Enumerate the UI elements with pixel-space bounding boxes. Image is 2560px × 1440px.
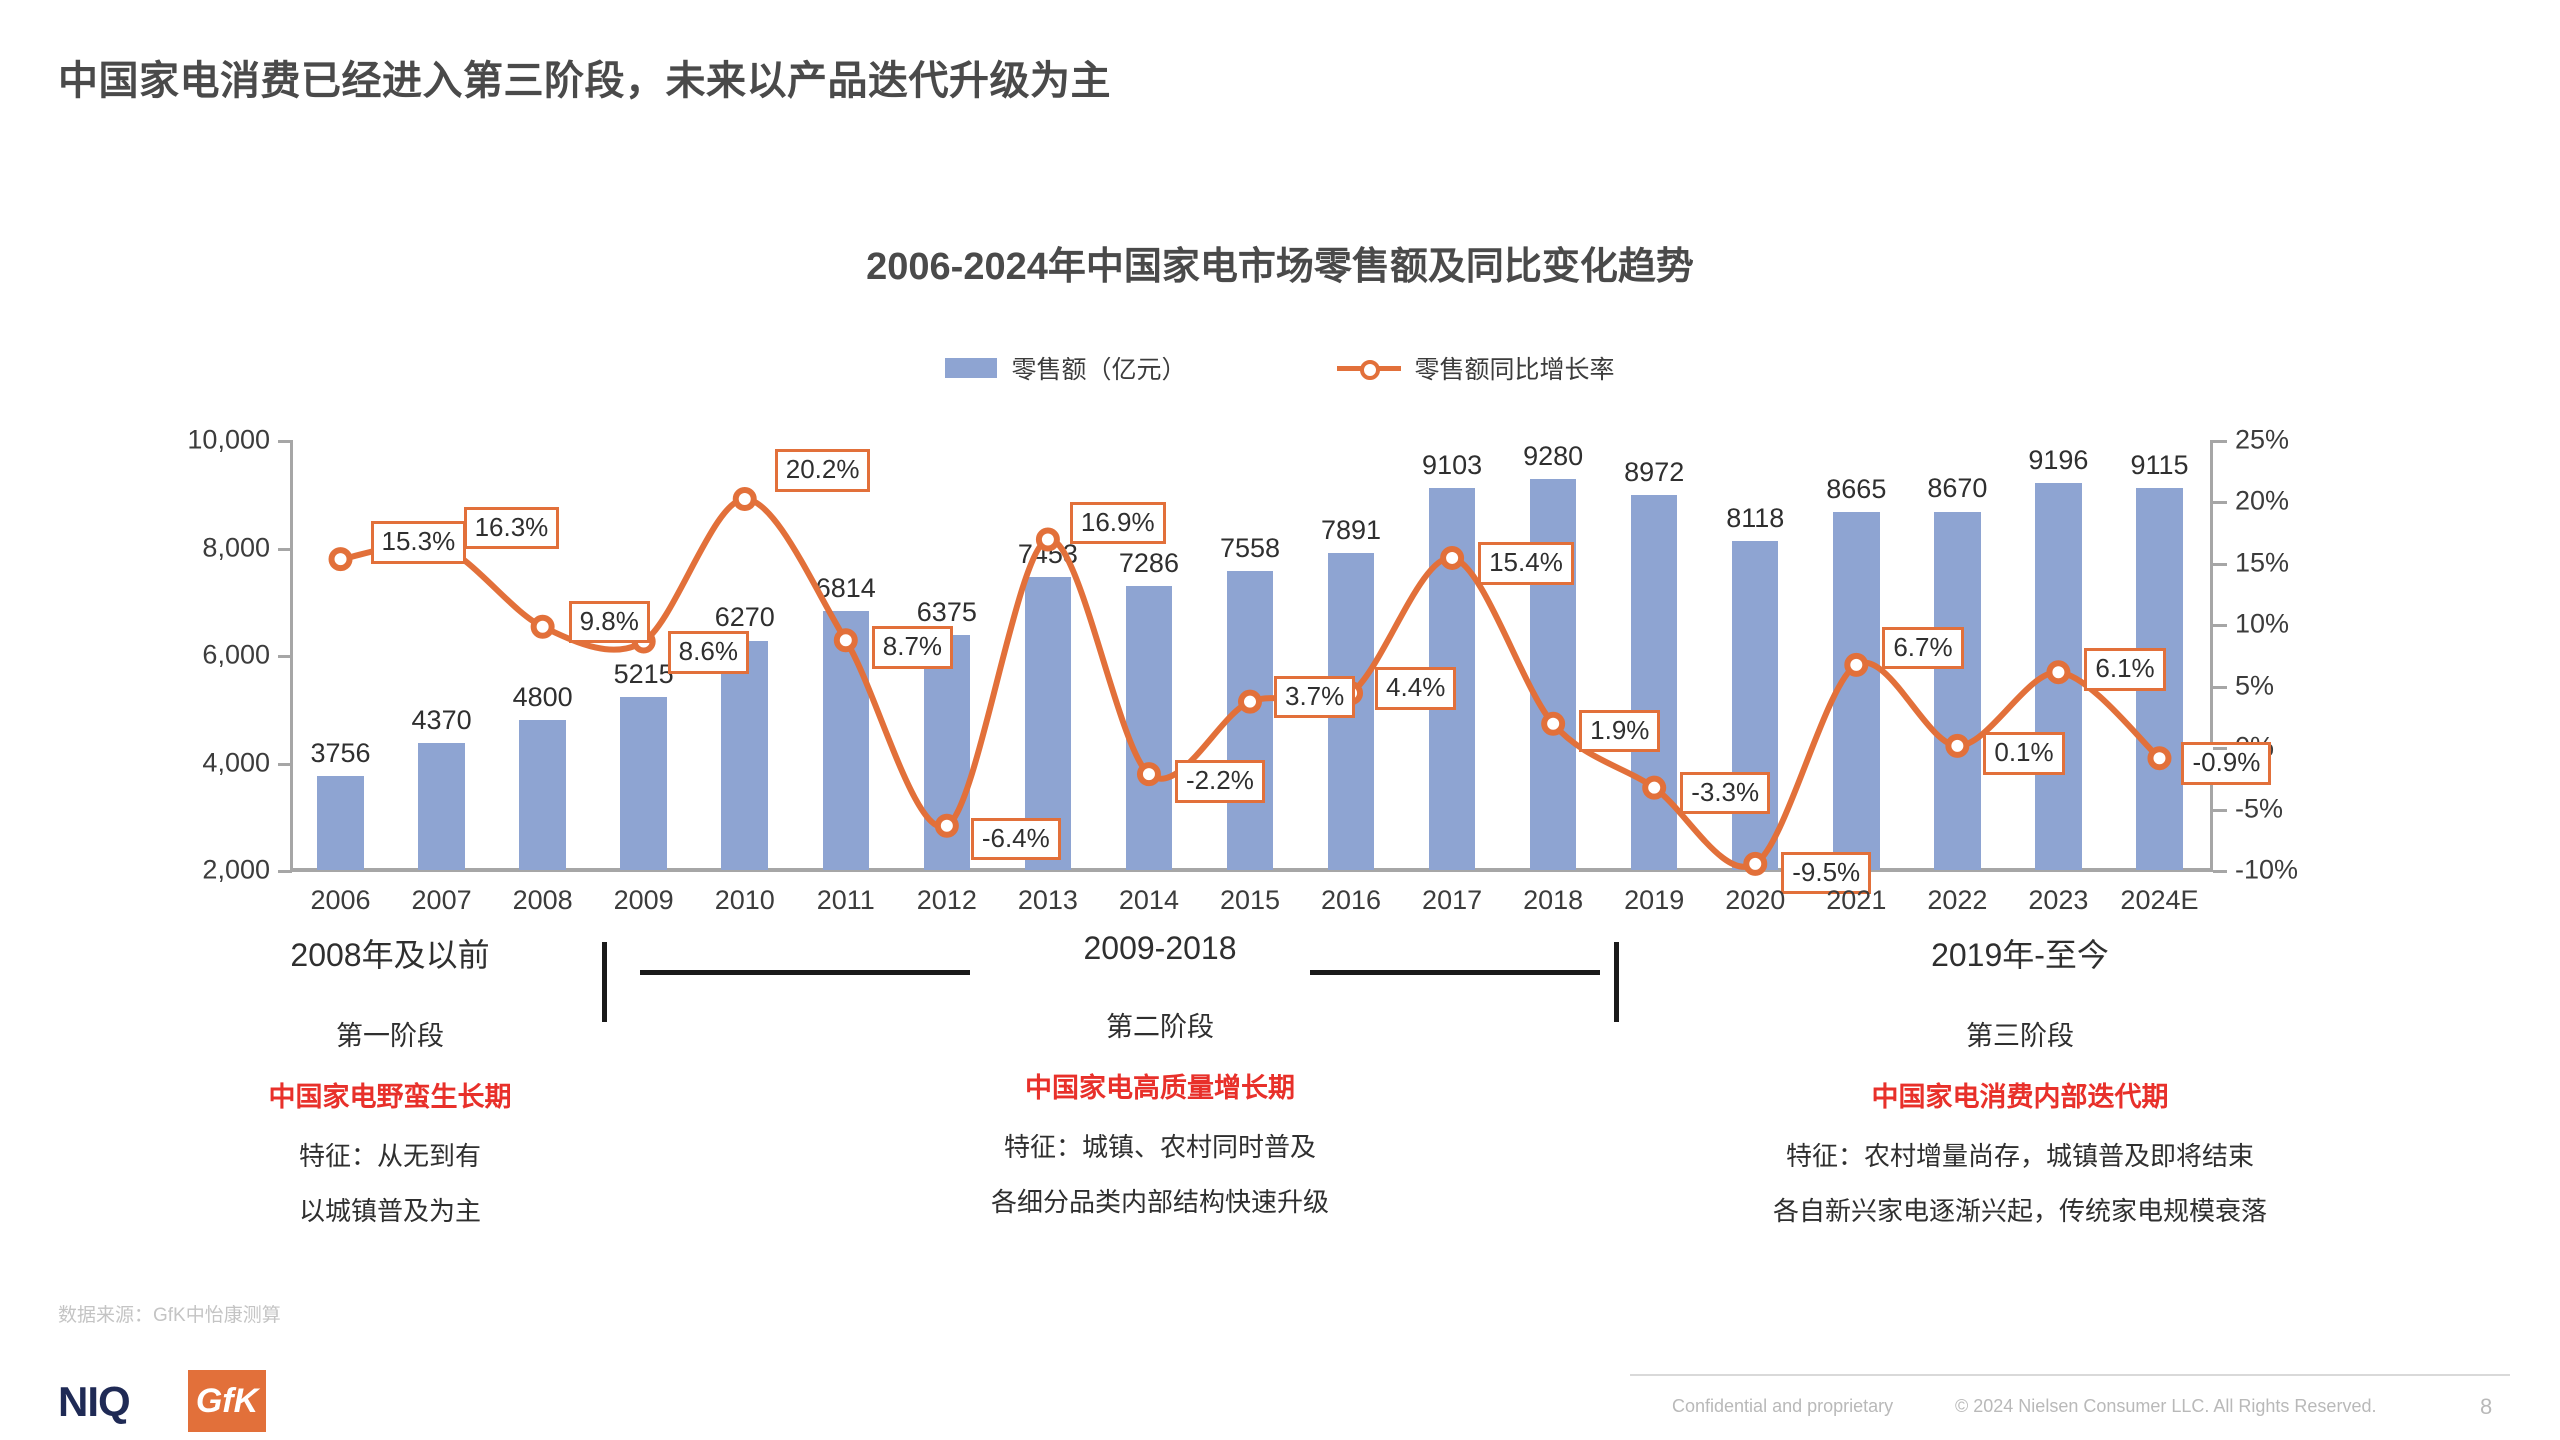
legend-line-label: 零售额同比增长率 <box>1415 350 1615 386</box>
x-axis-tick-label: 2009 <box>614 885 674 916</box>
y-axis-right-tick-label: -10% <box>2235 855 2298 886</box>
phase-feature: 各细分品类内部结构快速升级 <box>860 1182 1460 1219</box>
phase-feature: 特征：农村增量尚存，城镇普及即将结束 <box>1640 1136 2400 1173</box>
growth-value-label: 9.8% <box>569 601 650 644</box>
y-axis-right-tick <box>2213 440 2227 443</box>
y-axis-right-tick <box>2213 809 2227 812</box>
phase-divider-2 <box>1614 942 1619 1022</box>
growth-value-label: 3.7% <box>1274 676 1355 719</box>
x-axis-labels: 2006200720082009201020112012201320142015… <box>290 885 2210 935</box>
x-axis-tick-label: 2023 <box>2028 885 2088 916</box>
growth-value-label: 16.3% <box>464 507 560 550</box>
y-axis-right-labels: -10%-5%0%5%10%15%20%25% <box>2235 440 2395 870</box>
source-note: 数据来源：GfK中怡康测算 <box>58 1300 281 1327</box>
growth-value-label: 6.1% <box>2084 648 2165 691</box>
x-axis-tick-label: 2013 <box>1018 885 1078 916</box>
y-axis-right-tick <box>2213 501 2227 504</box>
y-axis-right-tick <box>2213 686 2227 689</box>
page-title: 中国家电消费已经进入第三阶段，未来以产品迭代升级为主 <box>58 48 1111 106</box>
phase-feature: 特征：从无到有 <box>180 1136 600 1173</box>
x-axis-tick-label: 2022 <box>1927 885 1987 916</box>
phase-range: 2019年-至今 <box>1640 930 2400 976</box>
phase-range: 2008年及以前 <box>180 930 600 976</box>
y-axis-left-tick <box>278 870 292 873</box>
y-axis-right-tick-label: 25% <box>2235 425 2289 456</box>
y-axis-left-tick <box>278 440 292 443</box>
x-axis-tick-label: 2024E <box>2120 885 2198 916</box>
page-number: 8 <box>2480 1394 2492 1420</box>
y-axis-right-tick-label: 5% <box>2235 670 2274 701</box>
footer-copyright: © 2024 Nielsen Consumer LLC. All Rights … <box>1955 1396 2376 1417</box>
phase-name: 中国家电高质量增长期 <box>860 1066 1460 1105</box>
x-axis-tick-label: 2018 <box>1523 885 1583 916</box>
y-axis-left-tick <box>278 548 292 551</box>
y-axis-right-tick-label: -5% <box>2235 793 2283 824</box>
growth-value-label: 20.2% <box>775 449 871 492</box>
growth-value-label: 15.4% <box>1478 542 1574 585</box>
x-axis-tick-label: 2010 <box>715 885 775 916</box>
legend-bar-swatch-icon <box>945 358 997 378</box>
footer-divider <box>1630 1374 2510 1376</box>
x-axis-tick-label: 2012 <box>917 885 977 916</box>
y-axis-left-tick-label: 2,000 <box>202 855 270 886</box>
legend-line-swatch-icon <box>1337 358 1401 378</box>
chart-plot: 2,0004,0006,0008,00010,000 -10%-5%0%5%10… <box>0 420 2560 910</box>
growth-value-label: 16.9% <box>1070 502 1166 545</box>
phase-range: 2009-2018 <box>860 930 1460 967</box>
phase-name: 中国家电消费内部迭代期 <box>1640 1075 2400 1114</box>
growth-value-label: -6.4% <box>971 818 1061 861</box>
x-axis-tick-label: 2017 <box>1422 885 1482 916</box>
growth-value-label: 0.1% <box>1983 732 2064 775</box>
x-axis-tick-label: 2015 <box>1220 885 1280 916</box>
x-axis-tick-label: 2016 <box>1321 885 1381 916</box>
y-axis-right-tick-label: 10% <box>2235 609 2289 640</box>
phase-stage: 第一阶段 <box>180 1014 600 1053</box>
legend-item-line: 零售额同比增长率 <box>1337 350 1615 386</box>
footer-confidential: Confidential and proprietary <box>1672 1396 1893 1417</box>
x-axis-tick-label: 2008 <box>513 885 573 916</box>
niq-logo: NIQ <box>58 1378 130 1426</box>
phase-feature: 以城镇普及为主 <box>180 1191 600 1228</box>
y-axis-left-tick-label: 10,000 <box>187 425 270 456</box>
x-axis-tick-label: 2021 <box>1826 885 1886 916</box>
growth-value-label: 15.3% <box>371 521 467 564</box>
growth-value-label: 8.6% <box>668 631 749 674</box>
phase-block-1: 2008年及以前 第一阶段 中国家电野蛮生长期 特征：从无到有 以城镇普及为主 <box>180 930 600 1246</box>
y-axis-right-tick <box>2213 563 2227 566</box>
x-axis-tick-label: 2007 <box>412 885 472 916</box>
phase-feature: 各自新兴家电逐渐兴起，传统家电规模衰落 <box>1640 1191 2400 1228</box>
x-axis-tick-label: 2020 <box>1725 885 1785 916</box>
phase-divider-1 <box>602 942 607 1022</box>
x-axis-tick-label: 2019 <box>1624 885 1684 916</box>
phase-stage: 第三阶段 <box>1640 1014 2400 1053</box>
phase-annotations: 2008年及以前 第一阶段 中国家电野蛮生长期 特征：从无到有 以城镇普及为主 … <box>0 930 2560 1270</box>
growth-value-label: 4.4% <box>1375 667 1456 710</box>
y-axis-right-tick <box>2213 747 2227 750</box>
y-axis-right-tick <box>2213 624 2227 627</box>
chart-title: 2006-2024年中国家电市场零售额及同比变化趋势 <box>0 235 2560 290</box>
y-axis-left-labels: 2,0004,0006,0008,00010,000 <box>150 440 270 870</box>
growth-value-label: -2.2% <box>1175 760 1265 803</box>
x-axis-tick-label: 2014 <box>1119 885 1179 916</box>
phase-stage: 第二阶段 <box>860 1005 1460 1044</box>
y-axis-right-line <box>2210 440 2213 870</box>
growth-value-label: 8.7% <box>872 626 953 669</box>
x-axis-tick-label: 2011 <box>817 885 875 916</box>
gfk-logo: GfK <box>188 1370 266 1432</box>
legend-item-bar: 零售额（亿元） <box>945 350 1186 386</box>
growth-value-label: 1.9% <box>1579 710 1660 753</box>
chart-legend: 零售额（亿元） 零售额同比增长率 <box>0 350 2560 386</box>
y-axis-left-tick-label: 8,000 <box>202 532 270 563</box>
percent-labels-layer: 15.3%16.3%9.8%8.6%20.2%8.7%-6.4%16.9%-2.… <box>290 440 2210 870</box>
y-axis-left-tick-label: 6,000 <box>202 640 270 671</box>
y-axis-left-tick-label: 4,000 <box>202 747 270 778</box>
slide-root: 中国家电消费已经进入第三阶段，未来以产品迭代升级为主 2006-2024年中国家… <box>0 0 2560 1440</box>
x-axis-tick-label: 2006 <box>310 885 370 916</box>
phase-name: 中国家电野蛮生长期 <box>180 1075 600 1114</box>
y-axis-left-tick <box>278 763 292 766</box>
phase-feature: 特征：城镇、农村同时普及 <box>860 1127 1460 1164</box>
growth-value-label: 6.7% <box>1882 627 1963 670</box>
y-axis-right-tick-label: 15% <box>2235 547 2289 578</box>
phase-block-2: 2009-2018 第二阶段 中国家电高质量增长期 特征：城镇、农村同时普及 各… <box>860 930 1460 1237</box>
legend-bar-label: 零售额（亿元） <box>1011 350 1186 386</box>
y-axis-left-tick <box>278 655 292 658</box>
phase-block-3: 2019年-至今 第三阶段 中国家电消费内部迭代期 特征：农村增量尚存，城镇普及… <box>1640 930 2400 1246</box>
growth-value-label: -3.3% <box>1680 772 1770 815</box>
y-axis-right-tick-label: 20% <box>2235 486 2289 517</box>
y-axis-right-tick <box>2213 870 2227 873</box>
